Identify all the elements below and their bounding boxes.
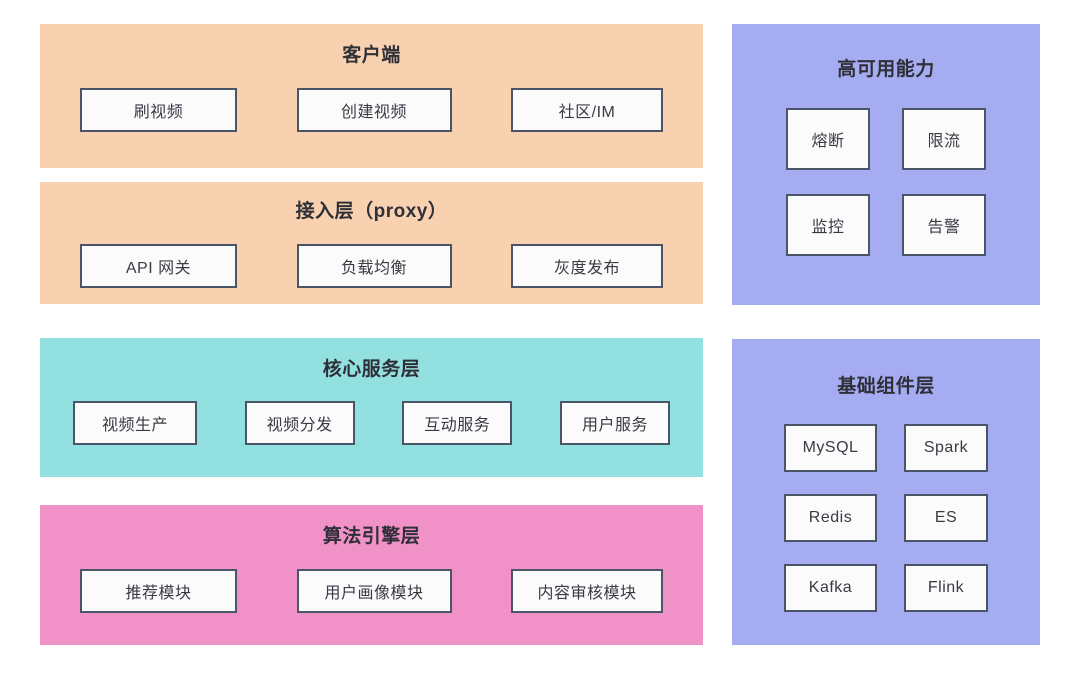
node-api-gateway[interactable]: API 网关	[80, 244, 237, 288]
node-create-video[interactable]: 创建视频	[297, 88, 452, 132]
node-rate-limiting[interactable]: 限流	[902, 108, 986, 170]
node-load-balancing[interactable]: 负载均衡	[297, 244, 452, 288]
layer-panel-algorithm-engine: 算法引擎层 推荐模块 用户画像模块 内容审核模块	[40, 505, 703, 645]
node-row-proxy: API 网关 负载均衡 灰度发布	[40, 244, 703, 288]
node-gray-release[interactable]: 灰度发布	[511, 244, 663, 288]
node-interaction-service[interactable]: 互动服务	[402, 401, 512, 445]
layer-title-infrastructure: 基础组件层	[837, 371, 935, 398]
node-user-profile-module[interactable]: 用户画像模块	[297, 569, 452, 613]
node-content-review-module[interactable]: 内容审核模块	[511, 569, 663, 613]
layer-title-core-service: 核心服务层	[323, 354, 421, 381]
node-user-service[interactable]: 用户服务	[560, 401, 670, 445]
node-row-core-service: 视频生产 视频分发 互动服务 用户服务	[40, 401, 703, 445]
node-kafka[interactable]: Kafka	[784, 564, 877, 612]
layer-title-algorithm-engine: 算法引擎层	[323, 521, 421, 548]
layer-panel-core-service: 核心服务层 视频生产 视频分发 互动服务 用户服务	[40, 338, 703, 477]
node-es[interactable]: ES	[904, 494, 988, 542]
layer-panel-high-availability: 高可用能力 熔断 限流 监控 告警	[732, 24, 1040, 305]
architecture-diagram: 客户端 刷视频 创建视频 社区/IM 接入层（proxy） API 网关 负载均…	[0, 0, 1080, 673]
node-community-im[interactable]: 社区/IM	[511, 88, 663, 132]
node-redis[interactable]: Redis	[784, 494, 877, 542]
node-recommendation-module[interactable]: 推荐模块	[80, 569, 237, 613]
node-video-production[interactable]: 视频生产	[73, 401, 197, 445]
node-grid-high-availability: 熔断 限流 监控 告警	[786, 108, 986, 256]
node-flink[interactable]: Flink	[904, 564, 988, 612]
node-row-algorithm-engine: 推荐模块 用户画像模块 内容审核模块	[40, 569, 703, 613]
node-circuit-breaker[interactable]: 熔断	[786, 108, 870, 170]
layer-panel-infrastructure: 基础组件层 MySQL Spark Redis ES Kafka Flink	[732, 339, 1040, 645]
node-alerting[interactable]: 告警	[902, 194, 986, 256]
layer-title-proxy: 接入层（proxy）	[296, 196, 448, 223]
layer-title-client: 客户端	[342, 40, 401, 67]
node-spark[interactable]: Spark	[904, 424, 988, 472]
node-video-distribution[interactable]: 视频分发	[245, 401, 355, 445]
node-row-client: 刷视频 创建视频 社区/IM	[40, 88, 703, 132]
node-mysql[interactable]: MySQL	[784, 424, 877, 472]
node-grid-infrastructure: MySQL Spark Redis ES Kafka Flink	[784, 424, 988, 612]
layer-panel-proxy: 接入层（proxy） API 网关 负载均衡 灰度发布	[40, 182, 703, 304]
node-monitoring[interactable]: 监控	[786, 194, 870, 256]
layer-panel-client: 客户端 刷视频 创建视频 社区/IM	[40, 24, 703, 168]
layer-title-high-availability: 高可用能力	[837, 54, 935, 81]
node-brush-video[interactable]: 刷视频	[80, 88, 237, 132]
